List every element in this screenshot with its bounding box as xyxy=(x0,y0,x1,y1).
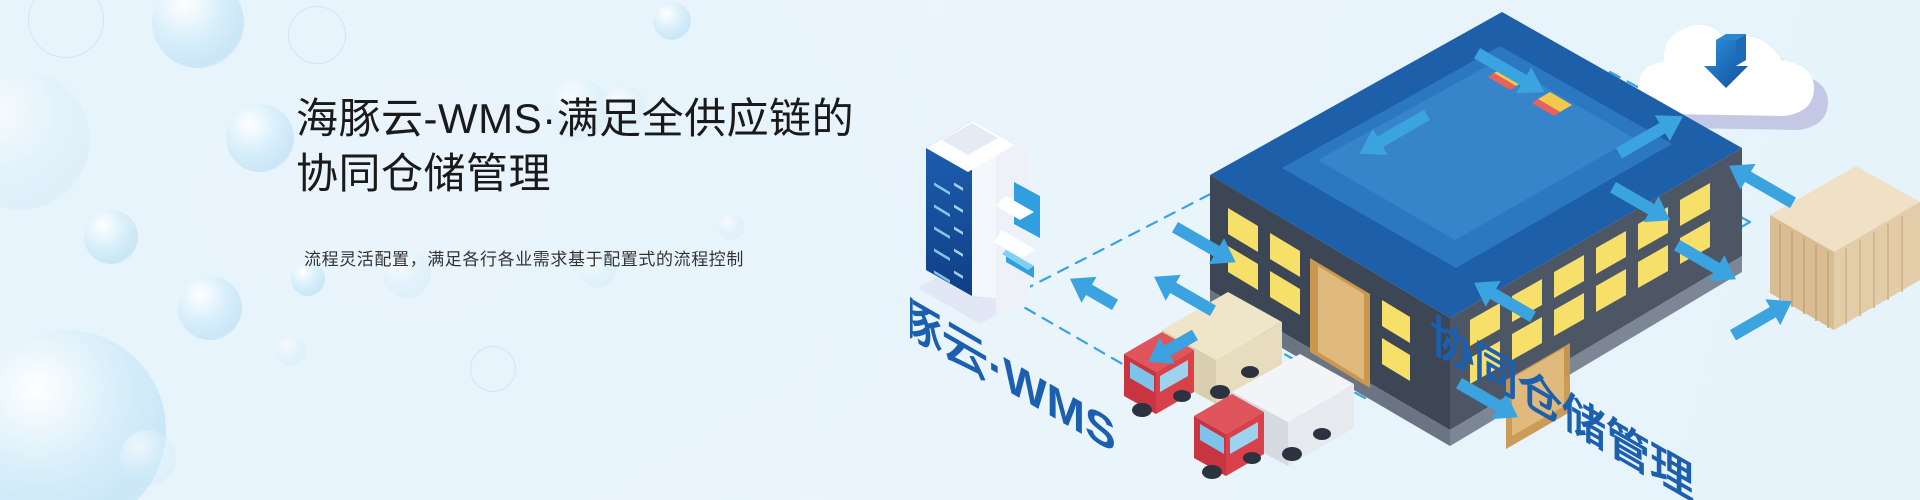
bubble-icon xyxy=(152,0,244,68)
warehouse-illustration: 海豚云·WMS 协同仓储管理 xyxy=(910,0,1920,500)
page-title: 海豚云-WMS·满足全供应链的 协同仓储管理 xyxy=(296,92,936,201)
hero-subtitle: 流程灵活配置，满足各行各业需求基于配置式的流程控制 xyxy=(296,201,936,273)
hero-text-block: 海豚云-WMS·满足全供应链的 协同仓储管理 流程灵活配置，满足各行各业需求基于… xyxy=(296,92,936,273)
bubble-ring-icon xyxy=(28,0,104,58)
bubble-icon xyxy=(0,330,166,500)
bubble-icon xyxy=(84,210,138,264)
bubble-icon xyxy=(120,430,176,486)
bubble-ring-icon xyxy=(470,346,516,392)
hero-banner: 海豚云-WMS·满足全供应链的 协同仓储管理 流程灵活配置，满足各行各业需求基于… xyxy=(0,0,1920,500)
server-rack-icon xyxy=(918,121,1040,324)
bubble-icon xyxy=(178,276,242,340)
bubble-icon xyxy=(226,104,294,172)
bubble-icon xyxy=(653,2,691,40)
bubble-icon xyxy=(276,336,306,366)
bubble-icon xyxy=(0,70,90,210)
shipping-container-icon xyxy=(1770,166,1920,330)
bubble-ring-icon xyxy=(288,6,346,64)
